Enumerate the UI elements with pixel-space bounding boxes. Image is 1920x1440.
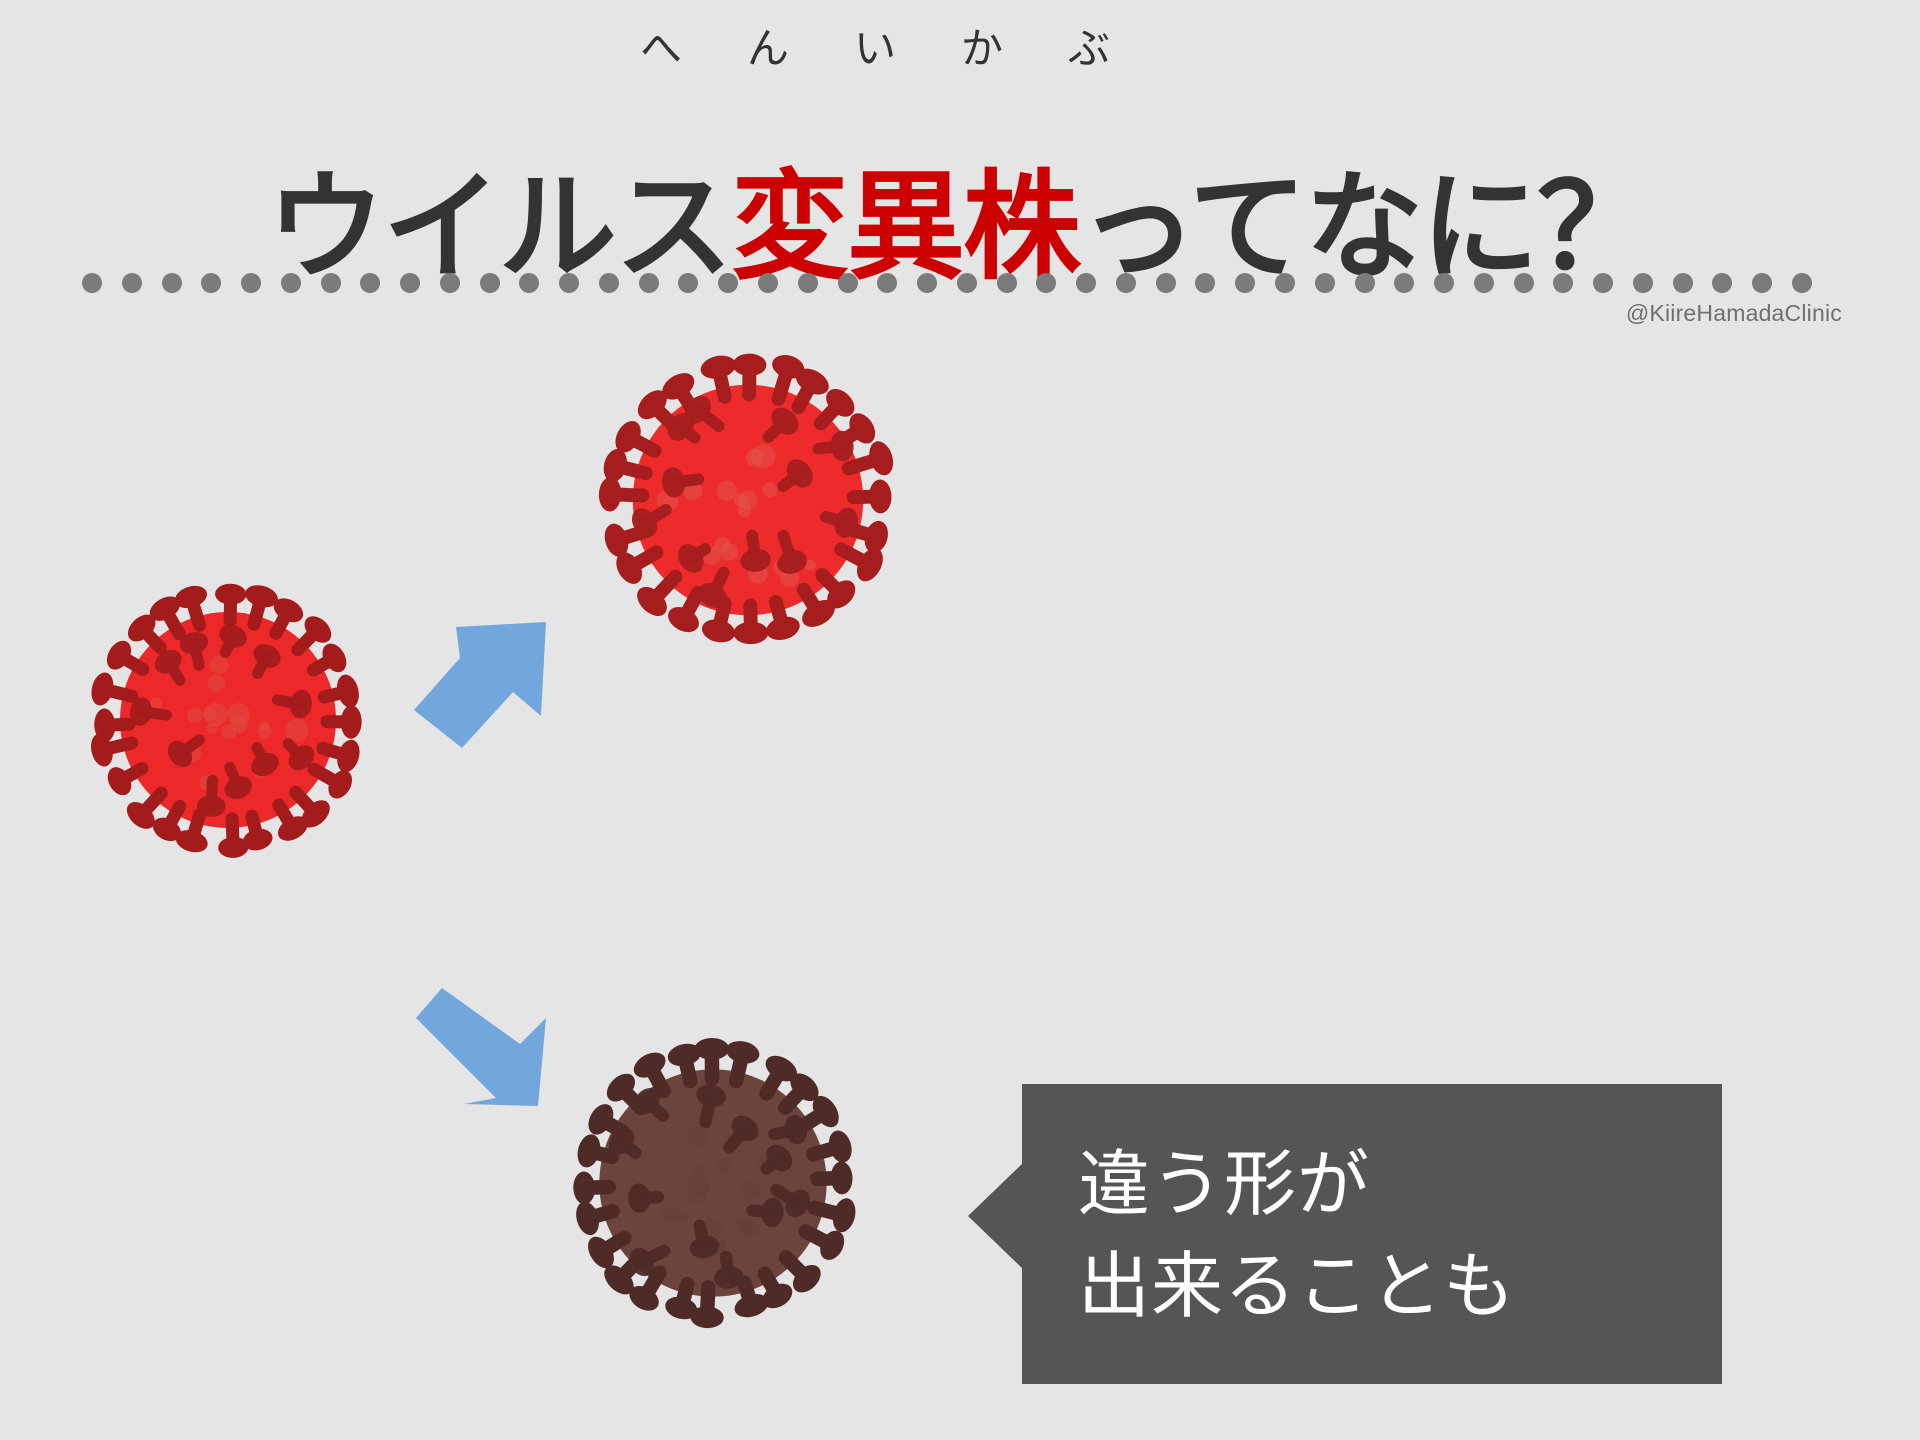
divider-dot <box>1514 273 1534 293</box>
callout-line-1: 違う形が <box>1078 1134 1698 1236</box>
divider-dot <box>718 273 738 293</box>
divider-dot <box>201 273 221 293</box>
callout-line-2: 出来ることも <box>1078 1236 1698 1338</box>
divider-dot <box>599 273 619 293</box>
callout-bubble: 違う形が 出来ることも <box>968 1084 1722 1384</box>
virus-spike-head <box>694 1038 729 1060</box>
furigana-char-3: い <box>854 28 896 70</box>
furigana-char-2: ん <box>747 28 789 70</box>
furigana-char-5: ぶ <box>1068 28 1110 70</box>
virus-texture-speck <box>715 1159 731 1175</box>
virus-spike-head <box>733 353 767 376</box>
virus-spike-head <box>334 737 364 775</box>
divider-dot <box>122 273 142 293</box>
divider-dot <box>1474 273 1494 293</box>
virus-texture-speck <box>677 1212 688 1223</box>
divider-dot <box>440 273 460 293</box>
divider-dot <box>997 273 1017 293</box>
virus-texture-speck <box>661 1206 678 1223</box>
divider-dot <box>480 273 500 293</box>
divider-dot <box>1116 273 1136 293</box>
divider-dot <box>1275 273 1295 293</box>
divider-dot <box>1076 273 1096 293</box>
divider-dot <box>957 273 977 293</box>
divider-dot <box>1235 273 1255 293</box>
mutation-arrow-up-icon <box>400 598 600 778</box>
virus-spike-head <box>698 352 738 382</box>
virus-texture-speck <box>210 655 229 674</box>
callout-bubble-text: 違う形が 出来ることも <box>1078 1134 1698 1338</box>
divider-dot <box>241 273 261 293</box>
virus-spike-head <box>825 1128 855 1165</box>
dotted-divider <box>82 272 1812 294</box>
divider-dot <box>360 273 380 293</box>
virus-spike-head <box>733 621 768 644</box>
divider-dot <box>559 273 579 293</box>
divider-dot <box>1633 273 1653 293</box>
virus-spike-head <box>88 670 116 708</box>
virus-spike-head <box>340 705 362 739</box>
divider-dot <box>321 273 341 293</box>
virus-spike-head <box>700 616 738 645</box>
virus-texture-speck <box>686 1173 710 1197</box>
divider-dot <box>82 273 102 293</box>
divider-dot <box>1355 273 1375 293</box>
original-virus-illustration <box>78 570 378 870</box>
virus-spike-head <box>865 438 897 478</box>
virus-texture-speck <box>762 482 777 497</box>
virus-spike-head <box>830 1161 853 1195</box>
virus-texture-speck <box>151 698 163 710</box>
virus-spike-head <box>764 613 803 644</box>
divider-dot <box>1712 273 1732 293</box>
virus-texture-speck <box>227 703 250 726</box>
virus-texture-speck <box>734 493 748 507</box>
virus-spike-head <box>334 672 362 710</box>
divider-dot <box>798 273 818 293</box>
divider-dot <box>281 273 301 293</box>
divider-dot <box>917 273 937 293</box>
virus-texture-speck <box>187 708 203 724</box>
virus-texture-speck <box>717 481 737 501</box>
divider-dot <box>1394 273 1414 293</box>
virus-spike-head <box>572 1199 602 1238</box>
virus-texture-speck <box>259 721 269 731</box>
virus-texture-speck <box>741 1181 760 1200</box>
divider-dot <box>678 273 698 293</box>
virus-texture-speck <box>688 1126 708 1146</box>
title-furigana: へ ん い か ぶ <box>640 28 1110 70</box>
variant-virus-red-illustration <box>588 340 908 660</box>
furigana-char-4: か <box>961 28 1003 70</box>
virus-spike-head <box>573 1171 596 1205</box>
virus-spike-head <box>598 477 622 512</box>
virus-texture-speck <box>203 708 216 721</box>
variant-virus-dark-illustration <box>558 1028 868 1338</box>
header: へ ん い か ぶ ウイルス変異株ってなに？ @KiireHamadaClini… <box>0 0 1920 300</box>
divider-dot <box>1315 273 1335 293</box>
virus-spike-head <box>574 1132 603 1170</box>
divider-dot <box>1036 273 1056 293</box>
divider-dot <box>1553 273 1573 293</box>
virus-spike-head <box>215 583 247 605</box>
divider-dot <box>1434 273 1454 293</box>
credit-attribution: @KiireHamadaClinic <box>1626 300 1842 327</box>
virus-spike-head <box>724 1038 762 1067</box>
virus-texture-speck <box>207 674 225 692</box>
divider-dot <box>1792 273 1812 293</box>
divider-dot <box>1752 273 1772 293</box>
divider-dot <box>162 273 182 293</box>
divider-dot <box>519 273 539 293</box>
divider-dot <box>1195 273 1215 293</box>
furigana-char-1: へ <box>640 28 682 70</box>
slide-canvas: へ ん い か ぶ ウイルス変異株ってなに？ @KiireHamadaClini… <box>0 0 1920 1440</box>
callout-bubble-pointer <box>968 1162 1024 1270</box>
virus-texture-speck <box>737 1216 752 1231</box>
virus-spike-head <box>869 479 892 513</box>
virus-texture-speck <box>746 449 764 467</box>
divider-dot <box>1156 273 1176 293</box>
divider-dot <box>639 273 659 293</box>
virus-spike-head <box>829 1196 858 1235</box>
divider-dot <box>400 273 420 293</box>
divider-dot <box>1673 273 1693 293</box>
divider-dot <box>838 273 858 293</box>
divider-dot <box>758 273 778 293</box>
divider-dot <box>877 273 897 293</box>
divider-dot <box>1593 273 1613 293</box>
